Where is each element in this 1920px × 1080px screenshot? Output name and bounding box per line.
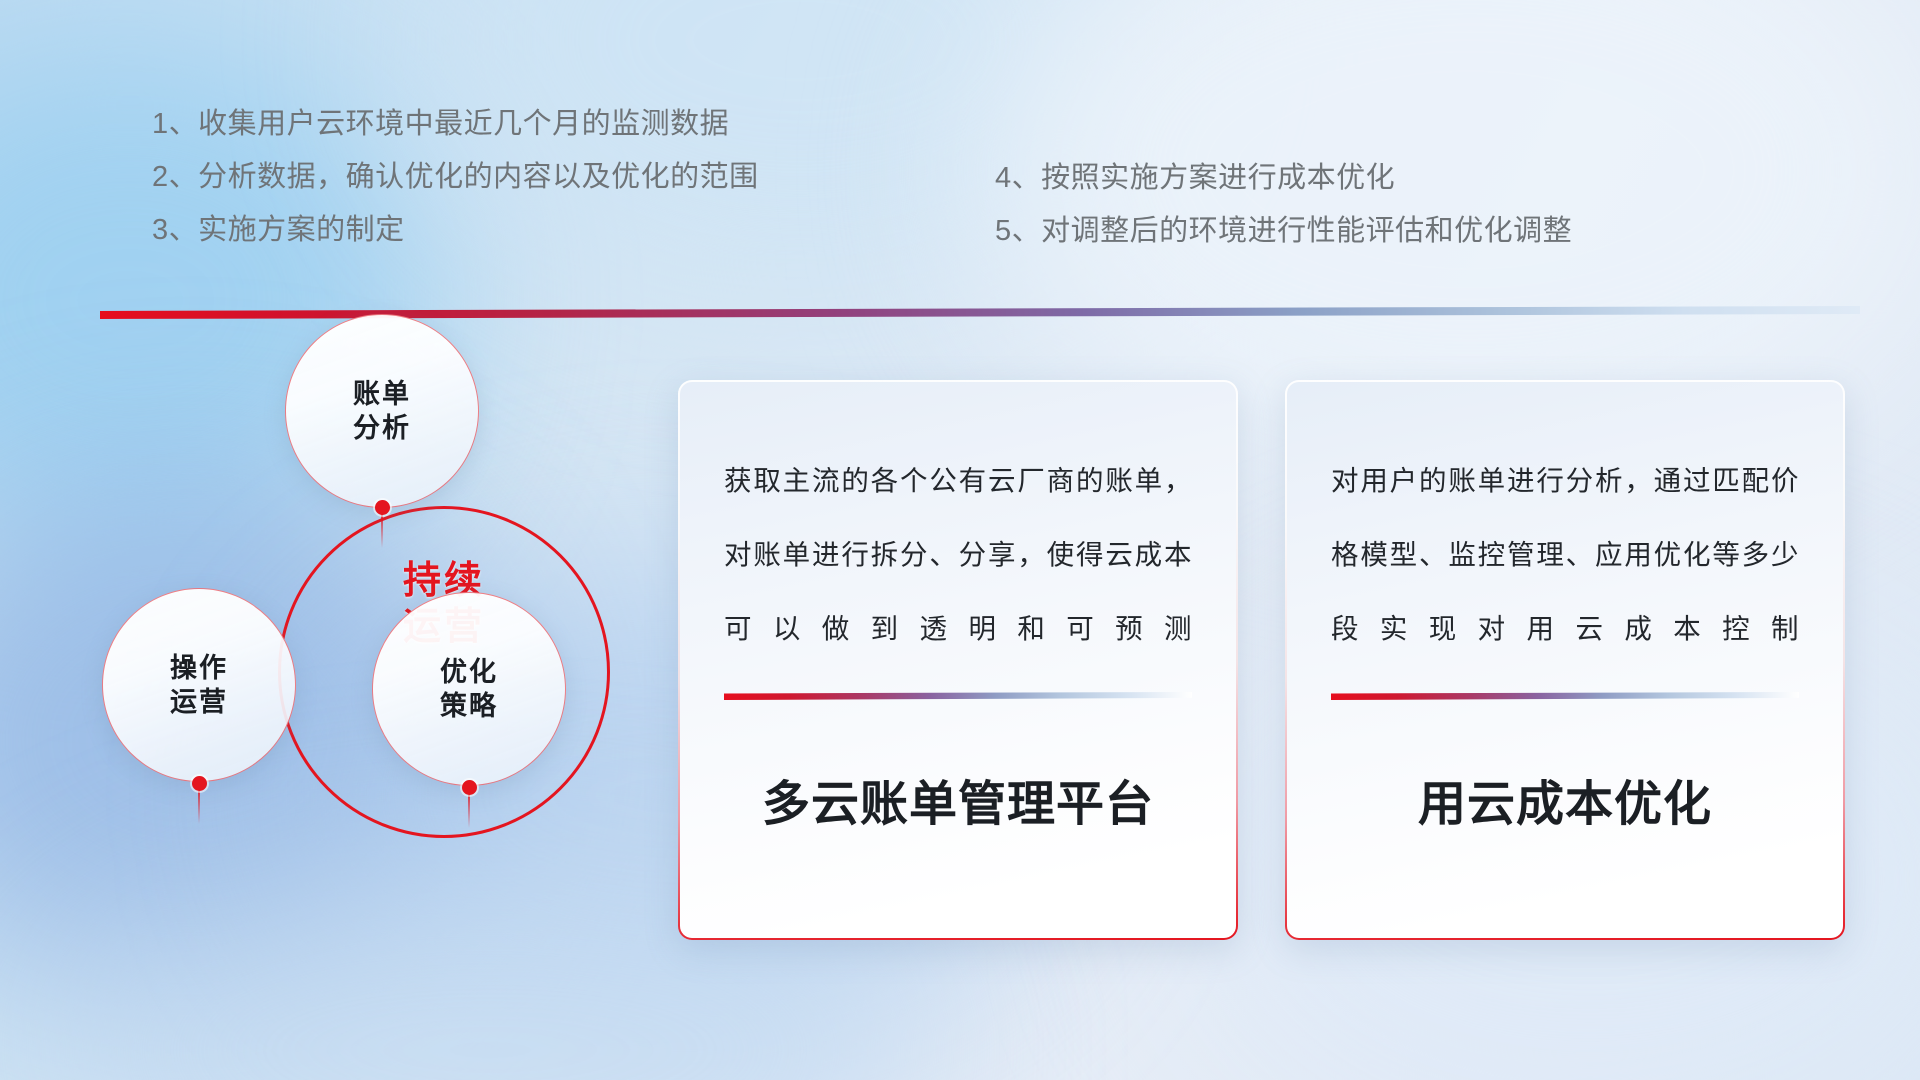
step-item: 1、收集用户云环境中最近几个月的监测数据: [152, 98, 759, 151]
feature-card-multicloud-billing[interactable]: 获取主流的各个公有云厂商的账单，对账单进行拆分、分享，使得云成本可以做到透明和可…: [678, 380, 1238, 940]
bubble-line-2: 运营: [170, 685, 228, 719]
node-dot-icon: [192, 776, 207, 791]
node-dot-icon: [462, 780, 477, 795]
slide-canvas: 1、收集用户云环境中最近几个月的监测数据 2、分析数据，确认优化的内容以及优化的…: [0, 0, 1920, 1080]
node-tail: [468, 794, 470, 828]
venn-diagram: 持续 运营 账单 分析 操作 运营 优化 策略: [80, 330, 680, 950]
card-title: 多云账单管理平台: [724, 764, 1192, 834]
bubble-line-1: 操作: [170, 651, 228, 685]
step-item: 5、对调整后的环境进行性能评估和优化调整: [995, 205, 1572, 258]
feature-card-cloud-cost-optimization[interactable]: 对用户的账单进行分析，通过匹配价格模型、监控管理、应用优化等多少段实现对用云成本…: [1285, 380, 1845, 940]
bubble-line-1: 优化: [440, 655, 498, 689]
card-title: 用云成本优化: [1331, 764, 1799, 834]
steps-list-right: 4、按照实施方案进行成本优化 5、对调整后的环境进行性能评估和优化调整: [995, 152, 1572, 258]
venn-bubble-optimization-strategy[interactable]: 优化 策略: [372, 592, 566, 786]
venn-bubble-operations[interactable]: 操作 运营: [102, 588, 296, 782]
steps-list-left: 1、收集用户云环境中最近几个月的监测数据 2、分析数据，确认优化的内容以及优化的…: [152, 98, 759, 257]
venn-bubble-billing-analysis[interactable]: 账单 分析: [285, 314, 479, 508]
bubble-line-2: 分析: [353, 411, 411, 445]
bubble-line-1: 账单: [353, 377, 411, 411]
card-gradient-rule: [724, 692, 1192, 700]
card-inner: 获取主流的各个公有云厂商的账单，对账单进行拆分、分享，使得云成本可以做到透明和可…: [680, 382, 1236, 938]
step-item: 3、实施方案的制定: [152, 204, 759, 257]
card-gradient-rule: [1331, 692, 1799, 700]
step-item: 2、分析数据，确认优化的内容以及优化的范围: [152, 151, 759, 204]
node-dot-icon: [375, 500, 390, 515]
node-tail: [198, 790, 200, 824]
card-body-text: 获取主流的各个公有云厂商的账单，对账单进行拆分、分享，使得云成本可以做到透明和可…: [724, 444, 1192, 666]
node-tail: [381, 514, 383, 548]
bubble-line-2: 策略: [440, 689, 498, 723]
card-body-text: 对用户的账单进行分析，通过匹配价格模型、监控管理、应用优化等多少段实现对用云成本…: [1331, 444, 1799, 666]
card-inner: 对用户的账单进行分析，通过匹配价格模型、监控管理、应用优化等多少段实现对用云成本…: [1287, 382, 1843, 938]
step-item: 4、按照实施方案进行成本优化: [995, 152, 1572, 205]
